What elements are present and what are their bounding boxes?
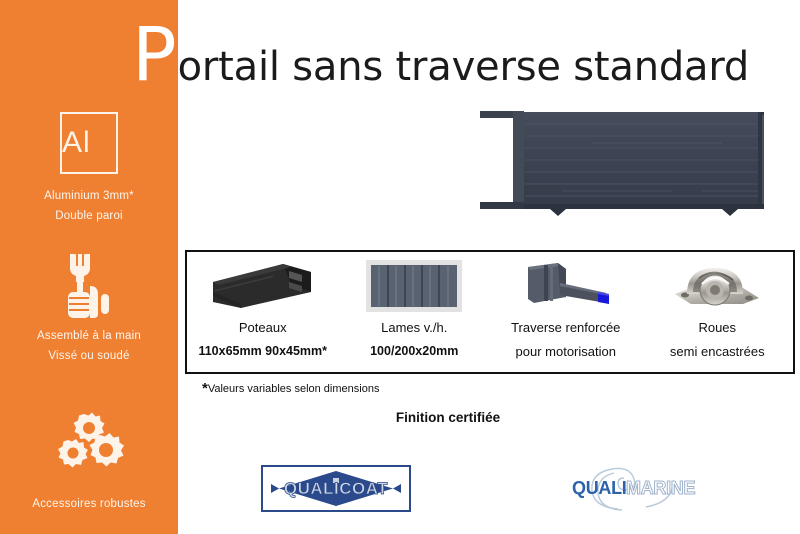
svg-text:QUALICOAT: QUALICOAT — [284, 479, 388, 498]
component-roues-title: Roues — [698, 320, 736, 335]
sidebar-feature-assembly-line2: Vissé ou soudé — [0, 346, 178, 366]
components-box: Poteaux 110x65mm 90x45mm* — [185, 250, 795, 374]
slats-panel-icon — [366, 258, 462, 314]
certification-label: Finition certifiée — [0, 410, 800, 425]
footnote: *Valeurs variables selon dimensions — [202, 380, 379, 397]
page-title: P ortail sans traverse standard — [132, 24, 749, 92]
sidebar-feature-assembly-line1: Assemblé à la main — [0, 326, 178, 346]
component-poteaux-sub: 110x65mm 90x45mm* — [198, 344, 327, 358]
hand-wrench-icon — [56, 252, 122, 324]
component-traverse-sub: pour motorisation — [516, 344, 616, 359]
wheel-bearing-icon — [669, 258, 765, 314]
component-poteaux: Poteaux 110x65mm 90x45mm* — [187, 252, 339, 372]
post-profile-icon — [207, 258, 319, 314]
aluminium-al-icon: Al — [60, 112, 118, 174]
svg-text:MARINE: MARINE — [626, 478, 695, 498]
slide-canvas: Al Aluminium 3mm* Double paroi — [0, 0, 800, 534]
certification-label-text: Finition certifiée — [396, 410, 500, 425]
sidebar-feature-aluminium-line1: Aluminium 3mm* — [0, 186, 178, 206]
sliding-gate-photo — [472, 103, 790, 221]
al-icon-label: Al — [62, 114, 116, 171]
sidebar-feature-accessories: Accessoires robustes — [0, 494, 178, 514]
component-lames-sub: 100/200x20mm — [370, 344, 458, 358]
qualicoat-logo: QUALICOAT — [261, 465, 411, 512]
component-lames-title: Lames v./h. — [381, 320, 447, 335]
sidebar-feature-accessories-line1: Accessoires robustes — [0, 494, 178, 514]
reinforced-crossbar-icon — [514, 258, 618, 314]
page-title-capital: P — [132, 24, 177, 86]
sidebar-feature-aluminium-line2: Double paroi — [0, 206, 178, 226]
component-traverse: Traverse renforcée pour motorisation — [490, 252, 642, 372]
footnote-text: Valeurs variables selon dimensions — [208, 383, 380, 395]
qualimarine-logo: QUALI MARINE — [560, 463, 708, 513]
page-title-rest: ortail sans traverse standard — [178, 42, 749, 92]
sidebar-feature-assembly: Assemblé à la main Vissé ou soudé — [0, 326, 178, 366]
component-lames: Lames v./h. 100/200x20mm — [339, 252, 491, 372]
component-roues: Roues semi encastrées — [642, 252, 794, 372]
component-poteaux-title: Poteaux — [239, 320, 287, 335]
sidebar-feature-aluminium: Aluminium 3mm* Double paroi — [0, 186, 178, 226]
component-roues-sub: semi encastrées — [670, 344, 765, 359]
svg-text:QUALI: QUALI — [572, 478, 627, 498]
component-traverse-title: Traverse renforcée — [511, 320, 620, 335]
